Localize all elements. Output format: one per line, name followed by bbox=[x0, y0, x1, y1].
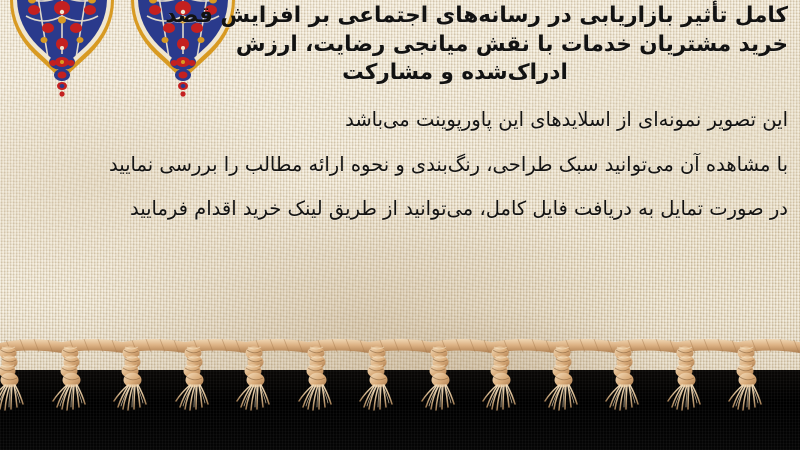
slide-title: کامل تأثیر بازاریابی در رسانه‌های اجتماع… bbox=[240, 2, 788, 88]
title-line-1: کامل تأثیر بازاریابی در رسانه‌های اجتماع… bbox=[240, 2, 788, 31]
bottom-black-band bbox=[0, 370, 800, 450]
title-line-3: ادراک‌شده و مشارکت bbox=[240, 59, 788, 88]
body-line-1: این تصویر نمونه‌ای از اسلایدهای این پاور… bbox=[88, 110, 788, 130]
slide-body-text: این تصویر نمونه‌ای از اسلایدهای این پاور… bbox=[88, 110, 788, 219]
body-line-3: در صورت تمایل به دریافت فایل کامل، می‌تو… bbox=[88, 199, 788, 219]
title-line-2: خرید مشتریان خدمات با نقش میانجی رضایت، … bbox=[240, 31, 788, 60]
slide-canvas: کامل تأثیر بازاریابی در رسانه‌های اجتماع… bbox=[0, 0, 800, 450]
body-line-2: با مشاهده آن می‌توانید سبک طراحی، رنگ‌بن… bbox=[88, 155, 788, 175]
